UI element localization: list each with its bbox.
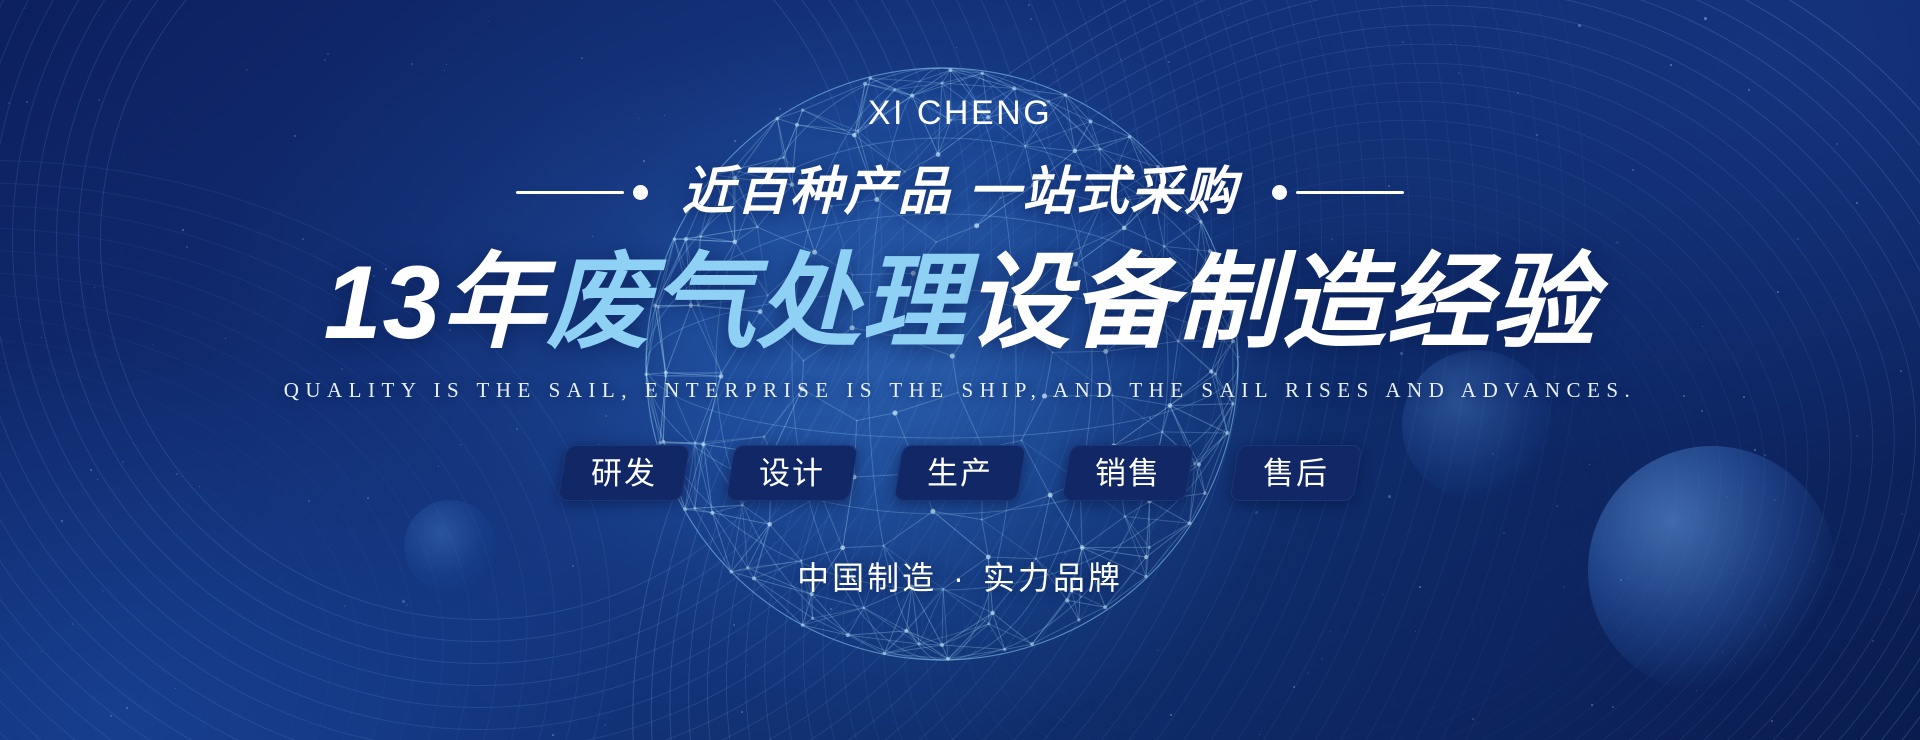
tag-label: 生产 xyxy=(927,458,993,489)
brand-english-name: XI CHENG xyxy=(868,96,1052,130)
footer-slogan: 中国制造·实力品牌 xyxy=(797,553,1123,599)
banner-content: XI CHENG 近百种产品 一站式采购 13年废气处理设备制造经验 QUALI… xyxy=(0,0,1920,740)
english-tagline: QUALITY IS THE SAIL, ENTERPRISE IS THE S… xyxy=(284,378,1637,403)
deco-dot-right xyxy=(1272,185,1287,200)
headline-part-highlight: 废气处理 xyxy=(546,245,966,361)
tag-label: 售后 xyxy=(1263,458,1329,489)
footer-separator: · xyxy=(937,560,983,596)
headline: 13年废气处理设备制造经验 xyxy=(324,248,1597,358)
tag-label: 销售 xyxy=(1095,458,1161,489)
tag-label: 研发 xyxy=(591,458,657,489)
service-tag-production[interactable]: 生产 xyxy=(898,445,1022,501)
headline-part-years: 13年 xyxy=(324,245,547,361)
deco-dot-left xyxy=(633,185,648,200)
headline-part-tail: 设备制造经验 xyxy=(966,245,1596,361)
footer-left-text: 中国制造 xyxy=(797,560,937,596)
service-tag-list: 研发 设计 生产 销售 售后 xyxy=(562,445,1358,501)
hero-banner: XI CHENG 近百种产品 一站式采购 13年废气处理设备制造经验 QUALI… xyxy=(0,0,1920,740)
service-tag-design[interactable]: 设计 xyxy=(730,445,854,501)
service-tag-sales[interactable]: 销售 xyxy=(1066,445,1190,501)
subtitle-row: 近百种产品 一站式采购 xyxy=(516,166,1404,218)
deco-bar-left xyxy=(516,191,624,194)
service-tag-after-sales[interactable]: 售后 xyxy=(1234,445,1358,501)
left-decoration-line xyxy=(516,185,648,200)
tag-label: 设计 xyxy=(759,458,825,489)
service-tag-rd[interactable]: 研发 xyxy=(562,445,686,501)
footer-right-text: 实力品牌 xyxy=(983,560,1123,596)
deco-bar-right xyxy=(1296,191,1404,194)
subtitle-text: 近百种产品 一站式采购 xyxy=(682,166,1238,218)
right-decoration-line xyxy=(1272,185,1404,200)
